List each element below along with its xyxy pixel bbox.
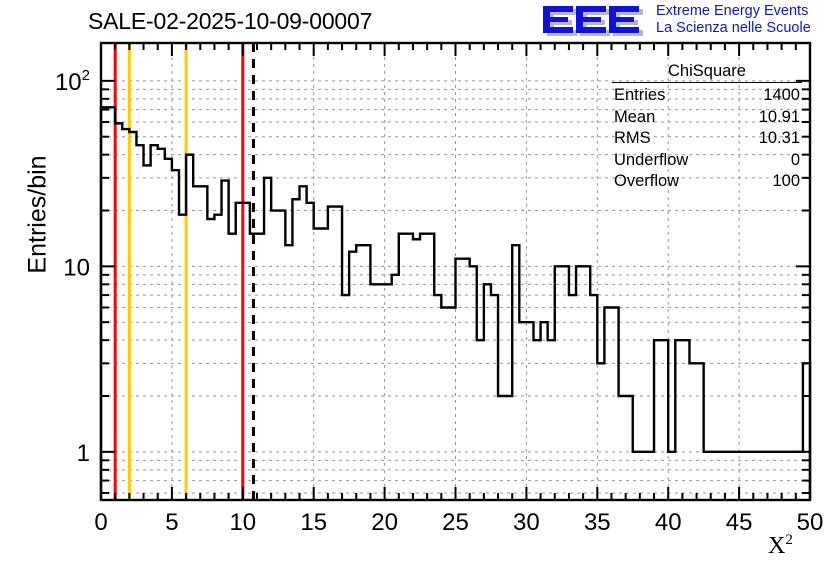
stats-divider (612, 82, 802, 83)
stats-row: Underflow0 (612, 150, 802, 172)
stats-row: Entries1400 (612, 85, 802, 107)
stats-box: ChiSquare Entries1400Mean10.91RMS10.31Un… (612, 62, 802, 193)
x-tick-label: 0 (94, 509, 107, 536)
x-tick-label: 40 (655, 509, 682, 536)
stats-label: Entries (614, 85, 665, 107)
stats-value: 0 (791, 150, 800, 172)
stats-label: Mean (614, 107, 655, 129)
stats-title: ChiSquare (612, 62, 802, 82)
x-tick-label: 45 (726, 509, 753, 536)
y-tick-labels: 110102 (55, 67, 90, 467)
x-tick-label: 5 (165, 509, 178, 536)
x-tick-label: 50 (797, 509, 824, 536)
y-tick-label: 1 (77, 440, 90, 467)
stats-value: 10.31 (759, 128, 800, 150)
x-tick-label: 20 (371, 509, 398, 536)
x-tick-label: 10 (229, 509, 256, 536)
x-tick-label: 30 (513, 509, 540, 536)
stats-value: 1400 (763, 85, 800, 107)
x-tick-label: 35 (584, 509, 611, 536)
stats-value: 10.91 (759, 107, 800, 129)
histogram-canvas: SALE-02-2025-10-09-00007 (0, 0, 836, 572)
stats-row: Mean10.91 (612, 107, 802, 129)
x-tick-label: 15 (300, 509, 327, 536)
stats-rows: Entries1400Mean10.91RMS10.31Underflow0Ov… (612, 85, 802, 193)
x-tick-labels: 05101520253035404550 (94, 509, 823, 536)
x-tick-label: 25 (442, 509, 469, 536)
stats-row: RMS10.31 (612, 128, 802, 150)
stats-label: Underflow (614, 150, 688, 172)
stats-row: Overflow100 (612, 171, 802, 193)
stats-label: Overflow (614, 171, 679, 193)
stats-value: 100 (772, 171, 800, 193)
y-tick-label: 10 (63, 254, 90, 281)
y-tick-label: 102 (55, 67, 90, 96)
marker-lines (115, 43, 253, 500)
stats-label: RMS (614, 128, 651, 150)
